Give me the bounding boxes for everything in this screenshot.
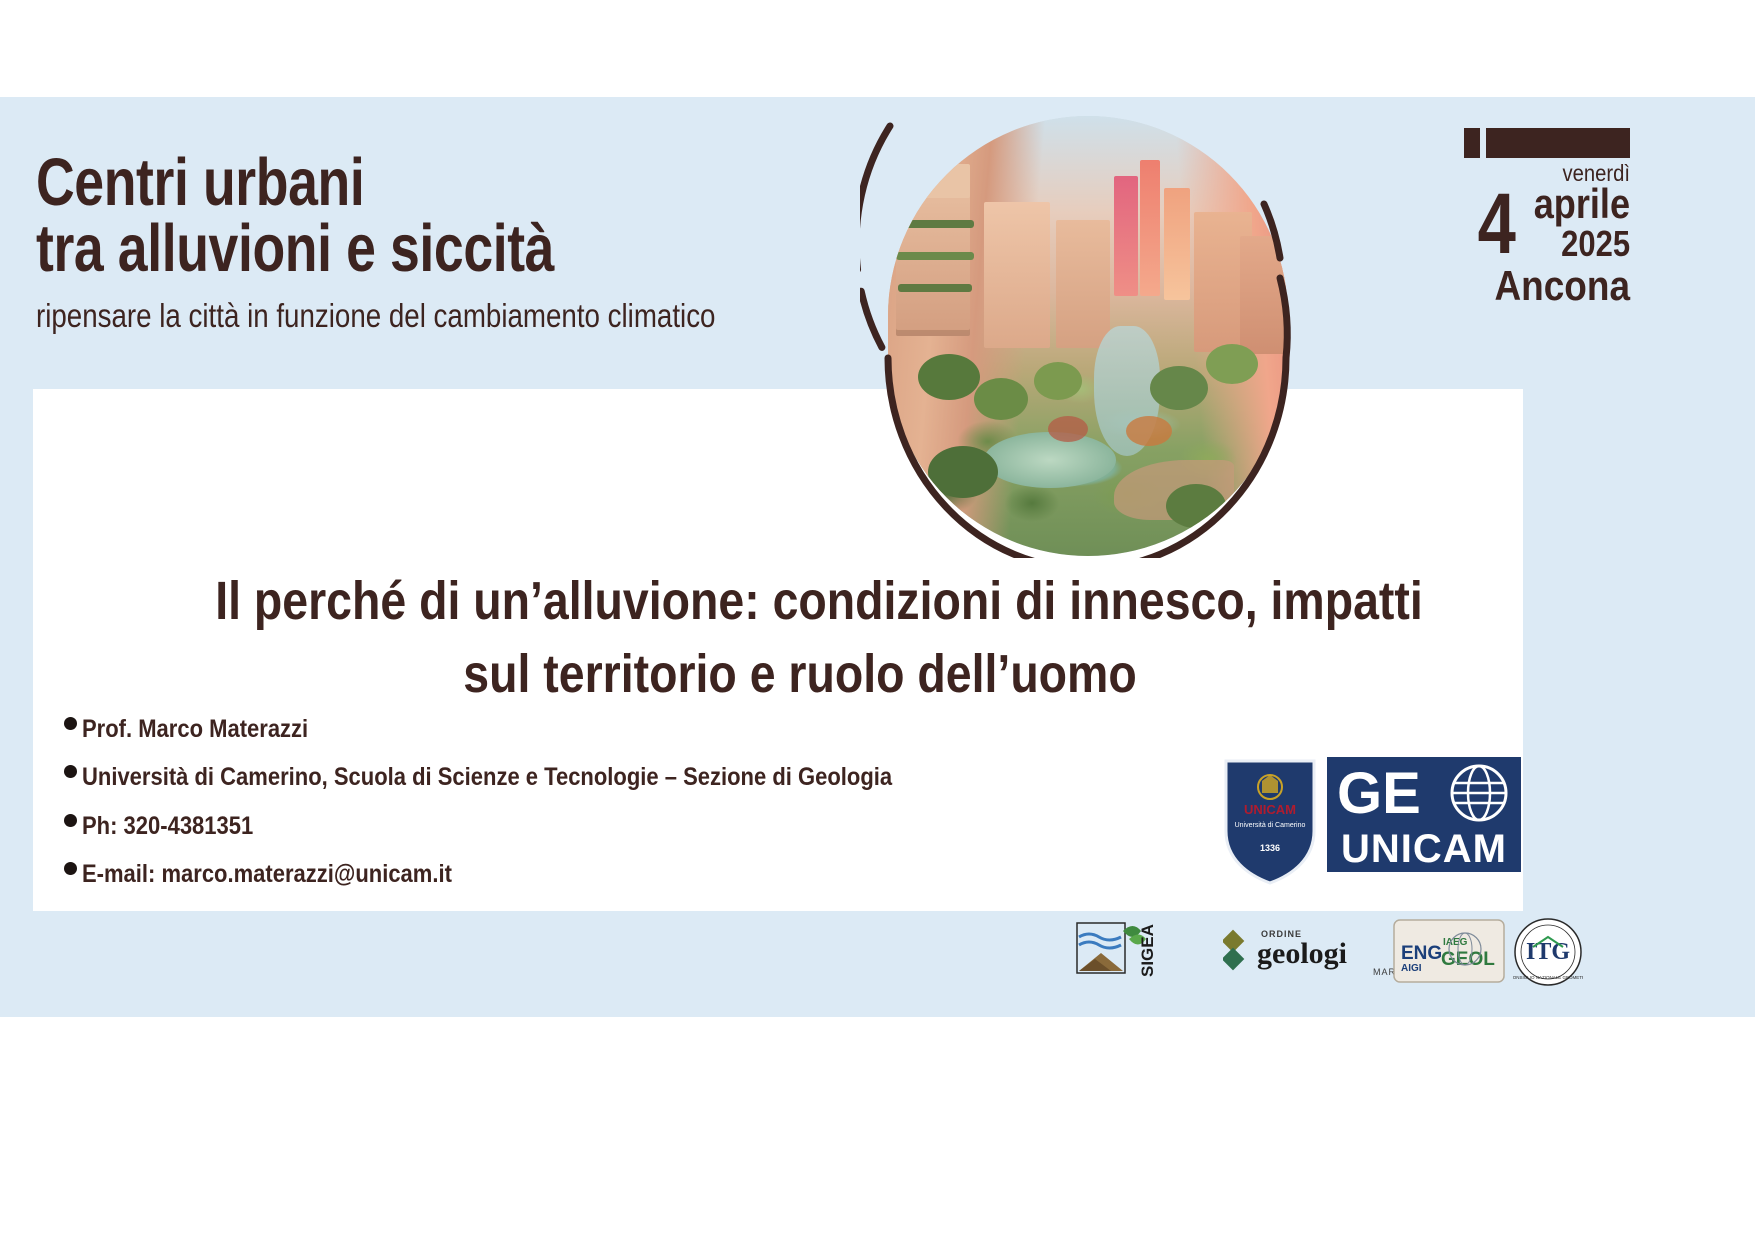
date-accent-bar-small — [1464, 128, 1480, 158]
tree-6 — [928, 446, 998, 498]
pond — [984, 432, 1116, 488]
svg-text:GE: GE — [1337, 761, 1421, 826]
hero-image-clip — [888, 116, 1288, 556]
list-item: E-mail: marco.materazzi@unicam.it — [64, 861, 964, 887]
tower-right-3 — [1164, 188, 1190, 300]
date-accent-bar-large — [1486, 128, 1630, 158]
speaker-name: Prof. Marco Materazzi — [82, 716, 308, 742]
event-date-block: venerdì 4 aprile 2025 Ancona — [1380, 162, 1630, 307]
event-month-year: aprile 2025 — [1518, 183, 1630, 263]
tree-4 — [1150, 366, 1208, 410]
svg-text:ENG: ENG — [1401, 943, 1442, 964]
poster-title-line1: Centri urbani — [36, 150, 692, 216]
speaker-email: E-mail: marco.materazzi@unicam.it — [82, 861, 452, 887]
tree-1 — [918, 354, 980, 400]
svg-text:UNICAM: UNICAM — [1341, 827, 1507, 871]
tree-3 — [1034, 362, 1082, 400]
svg-text:UNICAM: UNICAM — [1244, 802, 1296, 817]
header-block: Centri urbani tra alluvioni e siccità ri… — [36, 150, 856, 335]
shrub-orange — [1126, 416, 1172, 446]
tree-2 — [974, 378, 1028, 420]
talk-title-line2: sul territorio e ruolo dell’uomo — [215, 638, 1385, 711]
building-right-5 — [1240, 236, 1286, 354]
building-center-2 — [1056, 220, 1110, 348]
itg-icon: ITG CONSIGLIO NAZIONALE GEOMETRI — [1513, 917, 1583, 987]
building-left-2 — [910, 164, 970, 198]
unicam-shield-logo: UNICAM Università di Camerino 1336 — [1222, 757, 1318, 885]
svg-text:AIGI: AIGI — [1401, 963, 1422, 974]
poster-root: Centri urbani tra alluvioni e siccità ri… — [0, 0, 1755, 1241]
building-left-terrace-3 — [898, 284, 972, 292]
poster-title-line2: tra alluvioni e siccità — [36, 216, 692, 282]
itg-logo: ITG CONSIGLIO NAZIONALE GEOMETRI — [1513, 917, 1583, 987]
geo-unicam-logo: GE UNICAM — [1327, 757, 1521, 872]
sigea-logo: SIGEA — [1075, 915, 1187, 987]
list-item: Prof. Marco Materazzi — [64, 716, 964, 742]
list-item: Ph: 320-4381351 — [64, 813, 964, 839]
shrub-red — [1048, 416, 1088, 442]
svg-text:SIGEA: SIGEA — [1138, 924, 1157, 977]
svg-text:CONSIGLIO NAZIONALE GEOMETRI: CONSIGLIO NAZIONALE GEOMETRI — [1513, 975, 1583, 980]
eng-geol-icon: ENG IAEG AIGI GEOL — [1393, 919, 1505, 983]
talk-title-line1: Il perché di un’alluvione: condizioni di… — [215, 565, 1385, 638]
building-center-1 — [984, 202, 1050, 348]
event-date-row: 4 aprile 2025 — [1380, 183, 1630, 263]
event-day: 4 — [1478, 189, 1516, 260]
svg-text:1336: 1336 — [1260, 843, 1280, 853]
speaker-details-list: Prof. Marco Materazzi Università di Came… — [64, 716, 964, 909]
eng-geol-logo: ENG IAEG AIGI GEOL — [1393, 919, 1505, 983]
building-left-1 — [896, 186, 970, 336]
poster-subtitle: ripensare la città in funzione del cambi… — [36, 297, 725, 335]
speaker-affiliation: Università di Camerino, Scuola di Scienz… — [82, 764, 892, 790]
building-left-terrace-2 — [896, 252, 974, 260]
list-item: Università di Camerino, Scuola di Scienz… — [64, 764, 964, 790]
event-city: Ancona — [1410, 265, 1630, 307]
tower-right-1 — [1114, 176, 1138, 296]
svg-text:geologi: geologi — [1257, 937, 1347, 970]
tree-5 — [1206, 344, 1258, 384]
partner-logos-strip: SIGEA ORDINE geologi MARCHE ENG IAEG AIG… — [1075, 915, 1525, 995]
unicam-shield-icon: UNICAM Università di Camerino 1336 — [1222, 757, 1318, 885]
sigea-icon: SIGEA — [1075, 915, 1187, 987]
svg-text:IAEG: IAEG — [1443, 937, 1468, 948]
tree-7 — [1166, 484, 1226, 528]
event-month: aprile — [1534, 183, 1630, 225]
geo-unicam-icon: GE UNICAM — [1327, 757, 1521, 872]
speaker-phone: Ph: 320-4381351 — [82, 813, 253, 839]
building-left-terrace — [896, 220, 974, 228]
event-year: 2025 — [1534, 225, 1630, 263]
svg-text:ITG: ITG — [1526, 939, 1570, 965]
talk-title: Il perché di un’alluvione: condizioni di… — [120, 565, 1480, 711]
svg-text:Università di Camerino: Università di Camerino — [1235, 822, 1306, 829]
tower-right-2 — [1140, 160, 1160, 296]
hero-image-container — [860, 108, 1310, 558]
